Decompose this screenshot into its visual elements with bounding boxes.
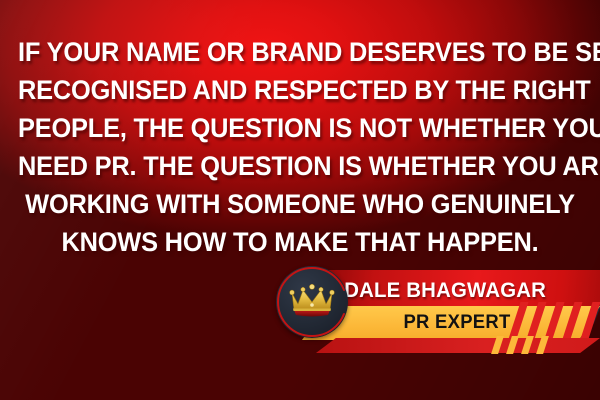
brand-tagline-label: PR EXPERT — [375, 311, 540, 335]
quote-graphic-canvas: IF YOUR NAME OR BRAND DESERVES TO BE SEE… — [0, 0, 600, 400]
quote-line-6: KNOWS HOW TO MAKE THAT HAPPEN. — [18, 223, 582, 261]
quote-line-1: IF YOUR NAME OR BRAND DESERVES TO BE SEE… — [18, 33, 582, 71]
stripe — [506, 336, 519, 354]
quote-line-4: NEED PR. THE QUESTION IS WHETHER YOU ARE — [18, 147, 582, 185]
stripe — [536, 336, 549, 354]
quote-line-2: RECOGNISED AND RESPECTED BY THE RIGHT — [18, 71, 582, 109]
crown-badge-icon — [276, 266, 348, 338]
quote-line-5: WORKING WITH SOMEONE WHO GENUINELY — [18, 185, 582, 223]
stripe — [580, 302, 600, 342]
quote-line-3: PEOPLE, THE QUESTION IS NOT WHETHER YOU — [18, 109, 582, 147]
stripe — [521, 336, 534, 354]
crown-icon — [289, 284, 335, 318]
brand-name-label: DALE BHAGWAGAR — [344, 274, 600, 308]
yellow-diagonal-stripes — [494, 336, 574, 354]
brand-logo-lockup: DALE BHAGWAGAR PR EXPERT — [272, 262, 600, 360]
quote-text-block: IF YOUR NAME OR BRAND DESERVES TO BE SEE… — [0, 33, 600, 261]
